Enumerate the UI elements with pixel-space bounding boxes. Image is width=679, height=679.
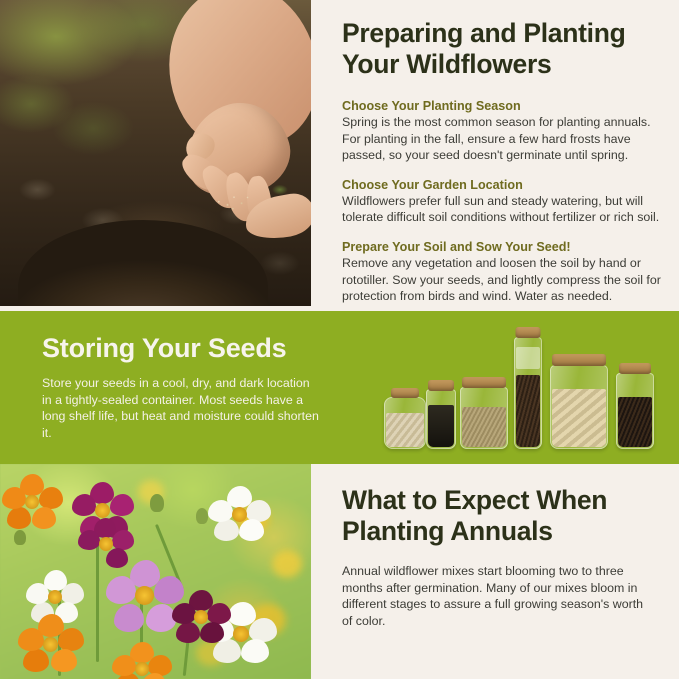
- purple-flower: [172, 590, 230, 644]
- section-planting-season: Choose Your Planting Season Spring is th…: [342, 98, 662, 164]
- petal: [58, 628, 84, 651]
- seed-fill: [428, 405, 454, 447]
- flower-center: [135, 586, 154, 605]
- petal: [214, 519, 239, 541]
- petal: [26, 583, 49, 604]
- petal: [84, 548, 106, 568]
- petal: [18, 628, 44, 651]
- petal: [78, 530, 100, 550]
- cork-lid: [552, 354, 606, 366]
- petal: [72, 494, 96, 516]
- petal: [23, 649, 49, 672]
- storing-body: Store your seeds in a cool, dry, and dar…: [42, 375, 322, 441]
- section-subheading: Prepare Your Soil and Sow Your Seed!: [342, 239, 662, 255]
- section-garden-location: Choose Your Garden Location Wildflowers …: [342, 177, 662, 226]
- section-prepare-soil: Prepare Your Soil and Sow Your Seed! Rem…: [342, 239, 662, 305]
- petal: [110, 494, 134, 516]
- section-subheading: Choose Your Garden Location: [342, 177, 662, 193]
- seed-fill: [462, 407, 506, 447]
- flower-center: [233, 626, 249, 642]
- section-body: Spring is the most common season for pla…: [342, 114, 662, 164]
- expect-heading: What to Expect When Planting Annuals: [342, 485, 652, 547]
- cork-lid: [391, 388, 419, 398]
- flower-center: [25, 495, 39, 509]
- preparing-heading: Preparing and Planting Your Wildflowers: [342, 18, 662, 80]
- flower-center: [194, 610, 208, 624]
- seed-fill: [516, 375, 540, 447]
- petal: [114, 604, 144, 632]
- expect-panel: What to Expect When Planting Annuals Ann…: [311, 464, 679, 679]
- seed-jar: [384, 397, 426, 449]
- seed-jar: [616, 373, 654, 449]
- orange-flower: [18, 614, 84, 674]
- flower-bud: [196, 508, 208, 524]
- flower-center: [232, 507, 247, 522]
- seed-jar: [426, 389, 456, 449]
- seed-jar: [460, 387, 508, 449]
- seed-jar: [514, 337, 542, 449]
- section-body: Wildflowers prefer full sun and steady w…: [342, 193, 662, 226]
- petal: [200, 622, 224, 643]
- petal: [112, 655, 136, 676]
- petal: [39, 487, 63, 509]
- cork-lid: [428, 380, 454, 391]
- flower-center: [135, 662, 149, 676]
- petal: [208, 500, 233, 522]
- cork-lid: [619, 363, 651, 374]
- flower-center: [99, 537, 113, 551]
- bokeh-blob: [272, 550, 302, 578]
- seed-fill: [618, 397, 652, 447]
- petal: [32, 507, 56, 529]
- white-flower: [208, 486, 270, 542]
- flower-center: [95, 503, 110, 518]
- wildflowers-photo: [0, 464, 311, 679]
- flower-bud: [14, 530, 26, 545]
- petal: [7, 507, 31, 529]
- orange-flower: [2, 474, 62, 530]
- petal: [239, 519, 264, 541]
- petal: [207, 603, 231, 624]
- flower-center: [43, 637, 58, 652]
- petal: [172, 603, 196, 624]
- expect-body: Annual wildflower mixes start blooming t…: [342, 563, 652, 629]
- petal: [176, 622, 200, 643]
- section-body: Remove any vegetation and loosen the soi…: [342, 255, 662, 305]
- hand-sowing-seeds-photo: [0, 0, 311, 306]
- lavender-flower: [106, 560, 182, 632]
- seed-fill: [552, 389, 606, 447]
- petal: [51, 649, 77, 672]
- petal: [106, 576, 136, 604]
- jar-neck: [516, 347, 540, 369]
- seed-jars-photo: [384, 327, 654, 455]
- orange-flower: [112, 642, 172, 679]
- cork-lid: [462, 377, 506, 388]
- section-subheading: Choose Your Planting Season: [342, 98, 662, 114]
- preparing-panel: Preparing and Planting Your Wildflowers …: [311, 0, 679, 311]
- storing-heading: Storing Your Seeds: [42, 333, 286, 364]
- infographic-page: Preparing and Planting Your Wildflowers …: [0, 0, 679, 679]
- petal: [61, 583, 84, 604]
- petal: [241, 639, 269, 663]
- storing-seeds-band: Storing Your Seeds Store your seeds in a…: [0, 311, 679, 464]
- petal: [2, 487, 26, 509]
- cork-lid: [516, 327, 541, 338]
- seed-jar: [550, 365, 608, 449]
- seed-fill: [386, 413, 424, 447]
- flower-center: [48, 590, 62, 604]
- petal: [112, 530, 134, 550]
- flower-bud: [150, 494, 164, 512]
